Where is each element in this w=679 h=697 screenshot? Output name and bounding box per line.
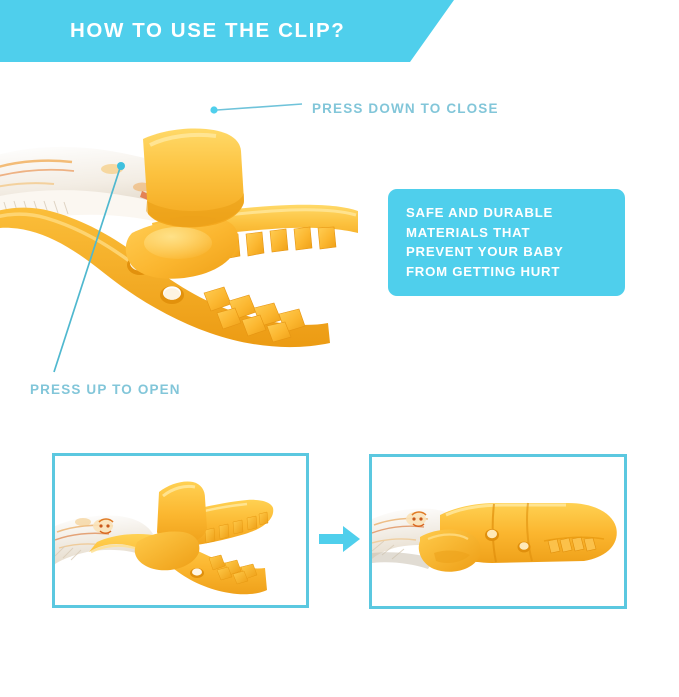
page-title: HOW TO USE THE CLIP? [70,0,345,62]
safety-callout-line-3: PREVENT YOUR BABY [406,242,625,262]
annotation-label-press-up-to-open: PRESS UP TO OPEN [30,382,181,397]
step-panel-clip-closed [369,454,627,609]
safety-callout-line-1: SAFE AND DURABLE [406,203,625,223]
hero-product-image [0,105,362,355]
clip-press-pad [143,128,244,227]
safety-callout-line-4: FROM GETTING HURT [406,262,625,282]
safety-callout-line-2: MATERIALS THAT [406,223,625,243]
safety-callout-box: SAFE AND DURABLE MATERIALS THAT PREVENT … [388,189,625,296]
arrow-right-icon [319,524,361,554]
annotation-label-press-down-to-close: PRESS DOWN TO CLOSE [312,101,499,116]
step-panel-clip-open [52,453,309,608]
panel-closed-hook [419,530,481,572]
